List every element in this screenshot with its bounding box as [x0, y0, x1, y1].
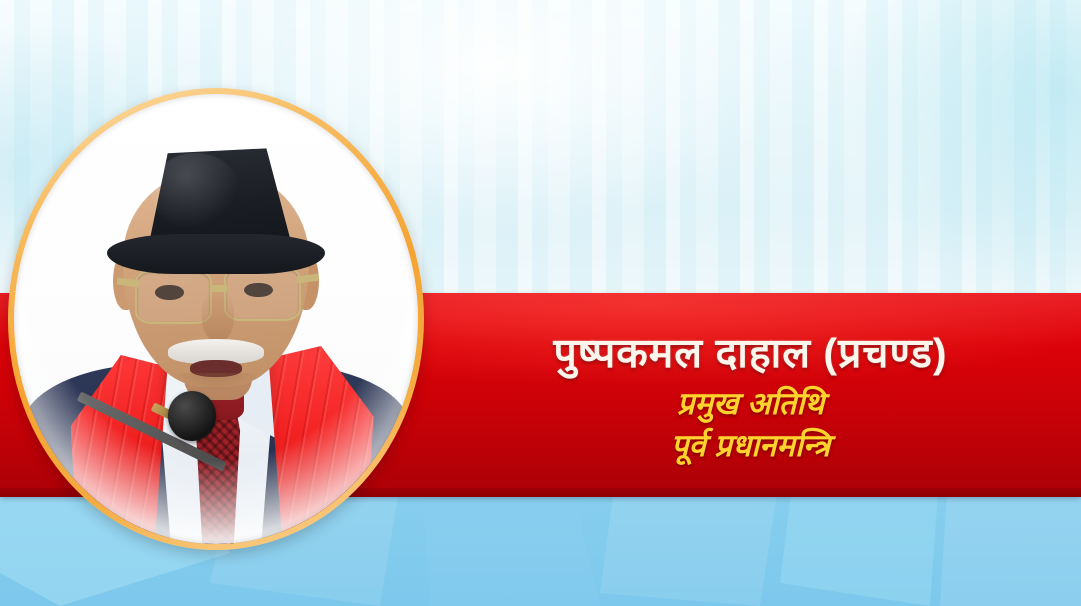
- portrait-photo-disc: [14, 94, 418, 544]
- banner-canvas: पुष्पकमल दाहाल (प्रचण्ड) प्रमुख अतिथि पू…: [0, 0, 1081, 606]
- microphone-head: [168, 391, 216, 441]
- portrait-illustration: [14, 94, 418, 544]
- eyeglass-lens-left: [135, 270, 212, 324]
- red-scarf-right-folds: [269, 346, 374, 544]
- portrait-circle: [8, 88, 424, 550]
- eyeglass-lens-right: [224, 267, 301, 321]
- guest-role-former-pm: पूर्व प्रधानमन्त्रि: [671, 426, 830, 466]
- cap-brim: [107, 234, 325, 275]
- nose: [202, 292, 234, 342]
- chin-shadow: [176, 373, 257, 391]
- cap-highlight: [151, 153, 240, 230]
- guest-name-title: पुष्पकमल दाहाल (प्रचण्ड): [553, 329, 947, 377]
- guest-role-chief-guest: प्रमुख अतिथि: [677, 384, 824, 424]
- banner-text-block: पुष्पकमल दाहाल (प्रचण्ड) प्रमुख अतिथि पू…: [420, 293, 1081, 497]
